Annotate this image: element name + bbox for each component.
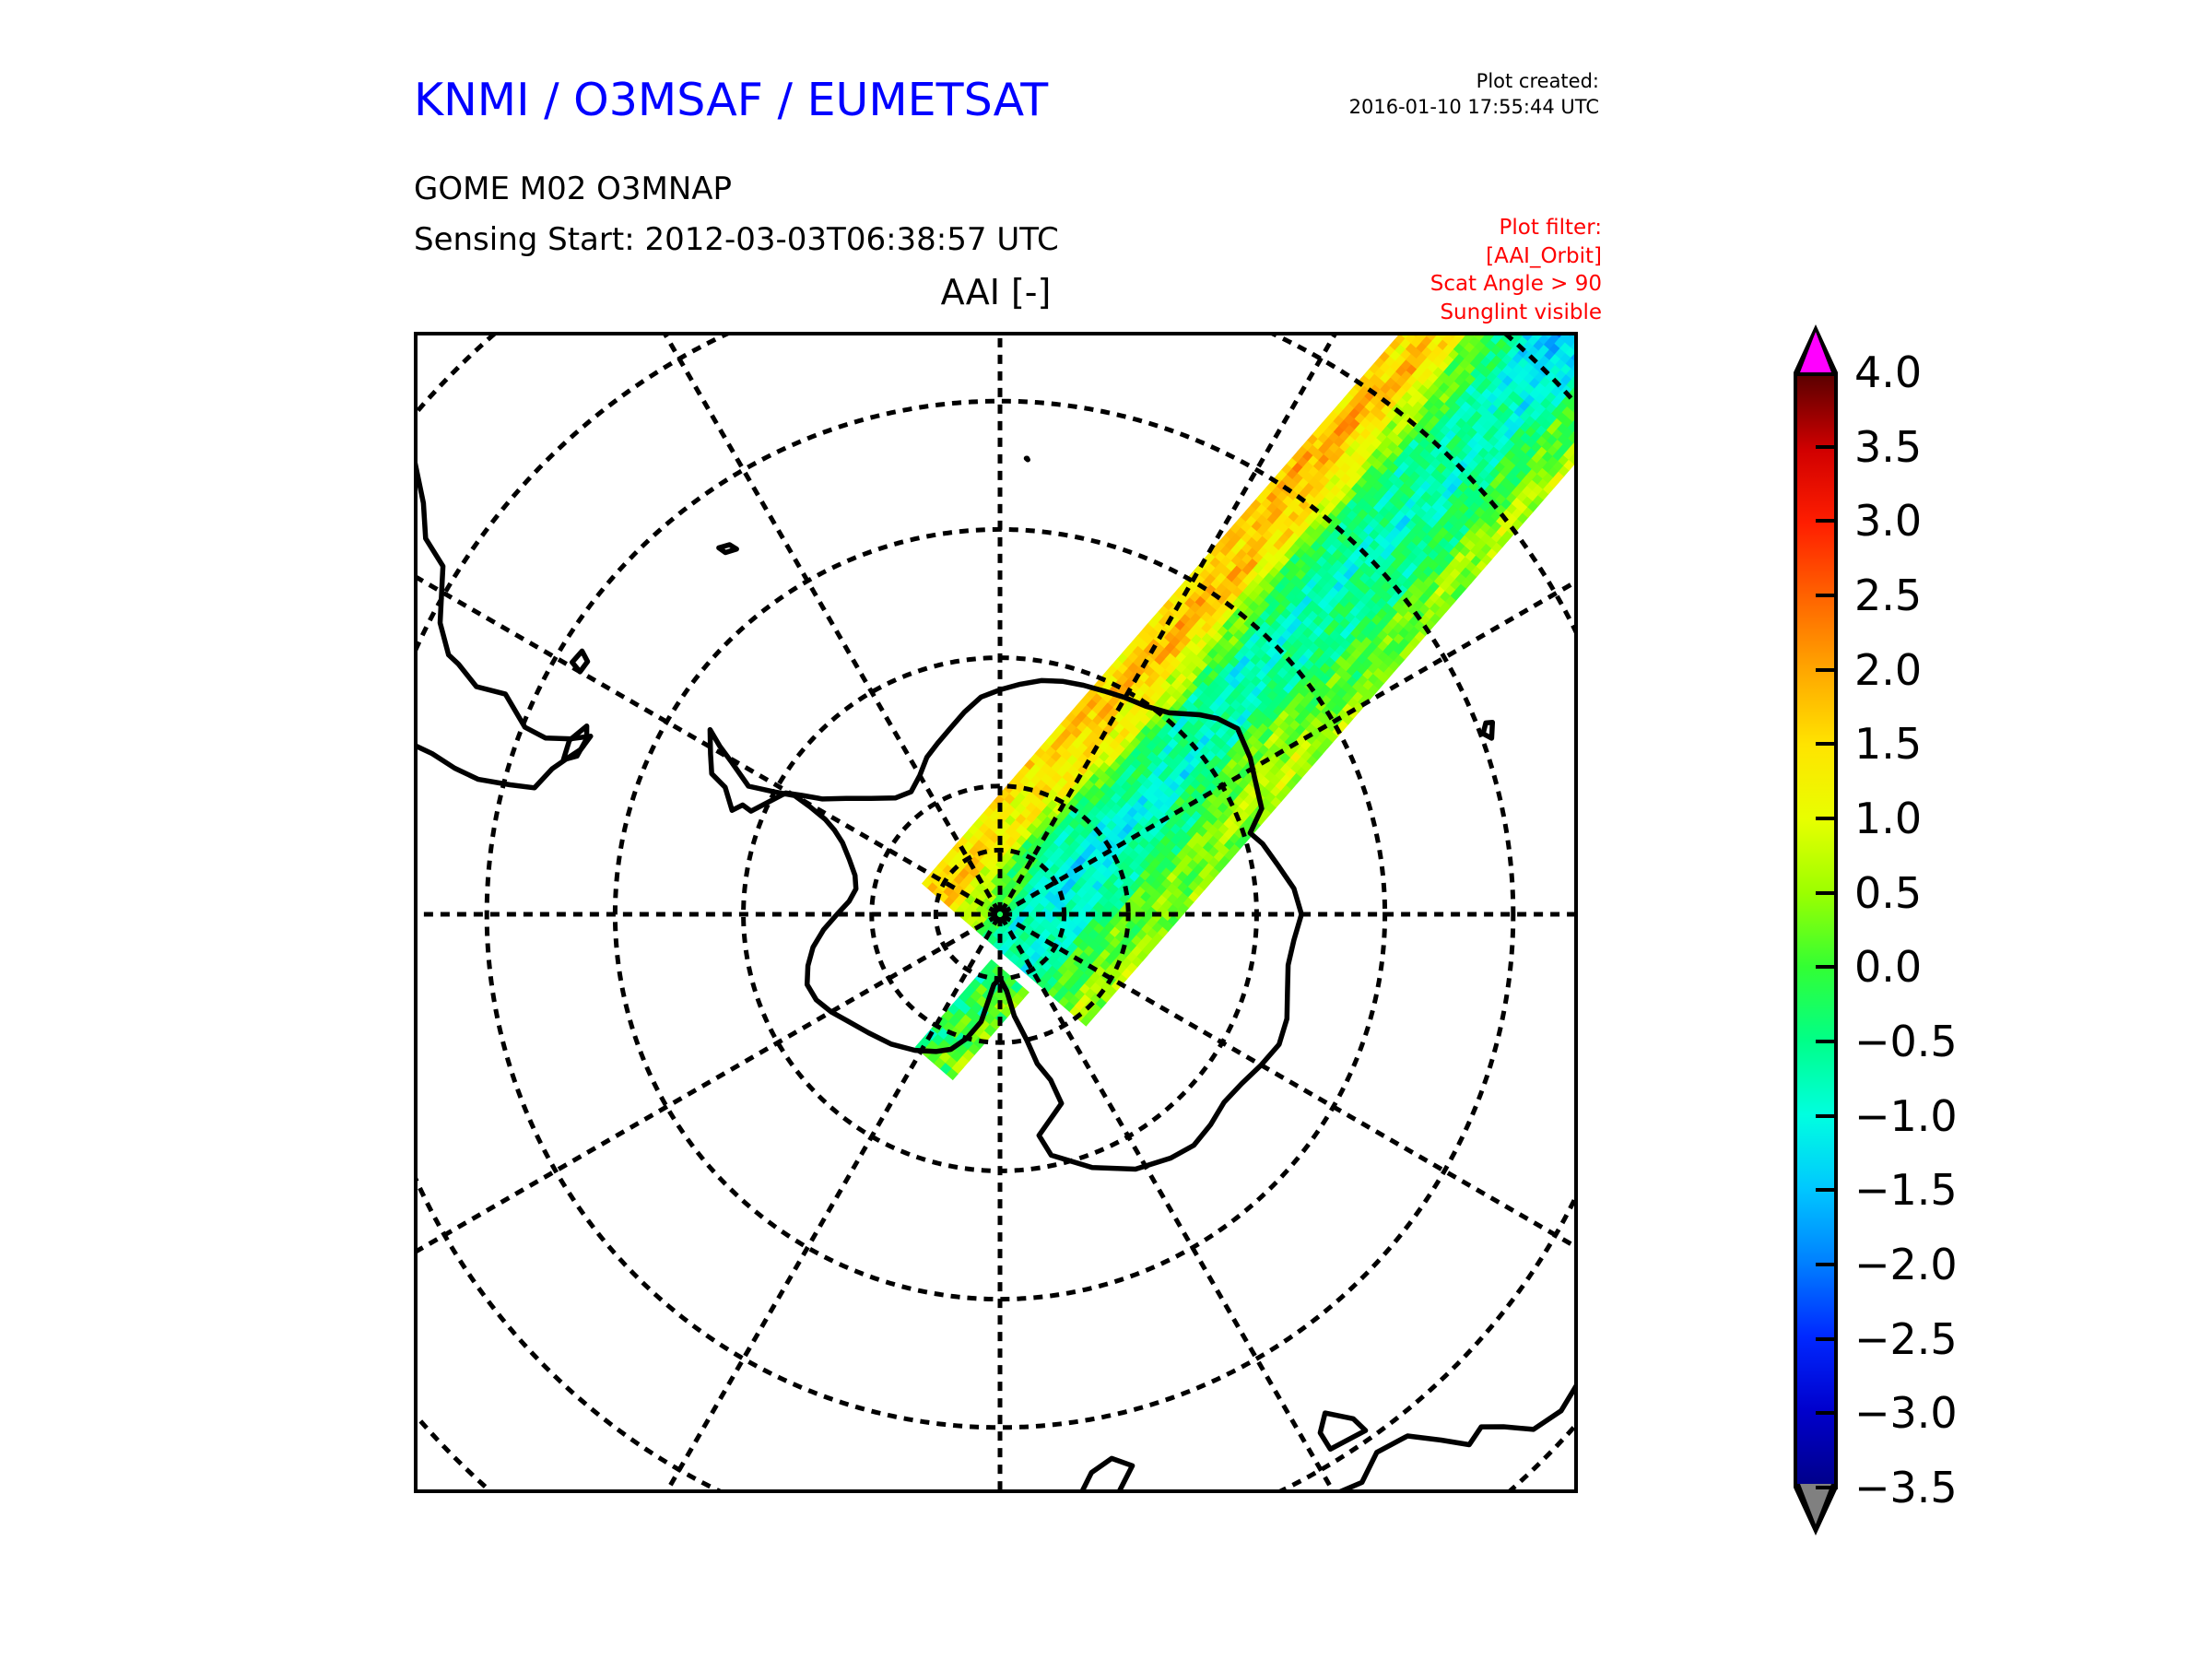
meridian-line <box>603 335 998 910</box>
colorbar-tick-label: 1.5 <box>1854 719 1922 769</box>
meridian-line <box>603 919 998 1489</box>
coastline-tasmania <box>1320 1413 1365 1449</box>
colorbar-tick-label: 2.0 <box>1854 645 1922 695</box>
colorbar-tick-label: 4.0 <box>1854 347 1922 397</box>
coastline-south-georgia <box>719 545 736 553</box>
plot-filter-product: [AAI_Orbit] <box>1309 242 1602 271</box>
coastline-kerguelen <box>1483 723 1492 738</box>
colorbar-gradient <box>1794 372 1838 1488</box>
plot-created-label: Plot created: <box>1318 68 1599 94</box>
colorbar-tick-label: −2.0 <box>1854 1240 1958 1289</box>
colorbar: 4.03.53.02.52.01.51.00.50.0−0.5−1.0−1.5−… <box>1779 324 2129 1500</box>
plot-filter-block: Plot filter: [AAI_Orbit] Scat Angle > 90… <box>1309 214 1602 326</box>
meridian-line <box>418 917 995 1312</box>
colorbar-tick <box>1816 891 1838 895</box>
colorbar-tick <box>1816 742 1838 746</box>
colorbar-tick-label: −1.0 <box>1854 1091 1958 1141</box>
colorbar-tick-label: 0.0 <box>1854 942 1922 992</box>
instrument-line: GOME M02 O3MNAP <box>414 171 732 207</box>
colorbar-tick-label: 0.5 <box>1854 868 1922 918</box>
polar-map <box>418 335 1574 1489</box>
plot-created-timestamp: 2016-01-10 17:55:44 UTC <box>1318 94 1599 120</box>
colorbar-tick-label: −1.5 <box>1854 1165 1958 1215</box>
plot-filter-condition: Scat Angle > 90 <box>1309 270 1602 299</box>
coastline-australia <box>1337 1217 1575 1489</box>
colorbar-tick-label: 3.0 <box>1854 496 1922 546</box>
colorbar-tick <box>1816 817 1838 820</box>
coastline-south-america <box>418 335 591 788</box>
colorbar-tick <box>1816 519 1838 523</box>
colorbar-tick <box>1816 594 1838 597</box>
coastline-bouvet <box>1027 458 1029 460</box>
colorbar-tick <box>1816 445 1838 449</box>
coastline-nz-south <box>1062 1458 1133 1489</box>
colorbar-tick-label: −3.5 <box>1854 1463 1958 1512</box>
colorbar-over-color <box>1800 332 1831 372</box>
colorbar-tick <box>1816 1114 1838 1118</box>
meridian-line <box>418 517 995 912</box>
colorbar-tick-label: 3.5 <box>1854 422 1922 472</box>
colorbar-tick-label: −2.5 <box>1854 1314 1958 1364</box>
plot-filter-label: Plot filter: <box>1309 214 1602 242</box>
colorbar-tick <box>1816 1188 1838 1192</box>
colorbar-under-color <box>1800 1484 1831 1524</box>
colorbar-tick <box>1816 1486 1838 1489</box>
colorbar-tick-label: −0.5 <box>1854 1017 1958 1066</box>
colorbar-tick-label: 2.5 <box>1854 571 1922 620</box>
page-title: KNMI / O3MSAF / EUMETSAT <box>414 74 1048 126</box>
plot-created-block: Plot created: 2016-01-10 17:55:44 UTC <box>1318 68 1599 121</box>
colorbar-tick <box>1816 965 1838 969</box>
coastline-tierra-del-fuego <box>563 726 586 760</box>
coastline-falklands <box>572 651 588 672</box>
colorbar-tick <box>1816 668 1838 672</box>
map-plot-area <box>414 332 1578 1493</box>
plot-filter-note: Sunglint visible <box>1309 299 1602 327</box>
colorbar-tick <box>1816 1040 1838 1043</box>
colorbar-tick-label: −3.0 <box>1854 1388 1958 1438</box>
colorbar-tick <box>1816 1263 1838 1266</box>
colorbar-tick <box>1816 1411 1838 1415</box>
colorbar-tick-label: 1.0 <box>1854 794 1922 843</box>
aai-swath <box>915 335 1574 1080</box>
colorbar-tick <box>1816 1337 1838 1341</box>
sensing-start-line: Sensing Start: 2012-03-03T06:38:57 UTC <box>414 221 1059 258</box>
